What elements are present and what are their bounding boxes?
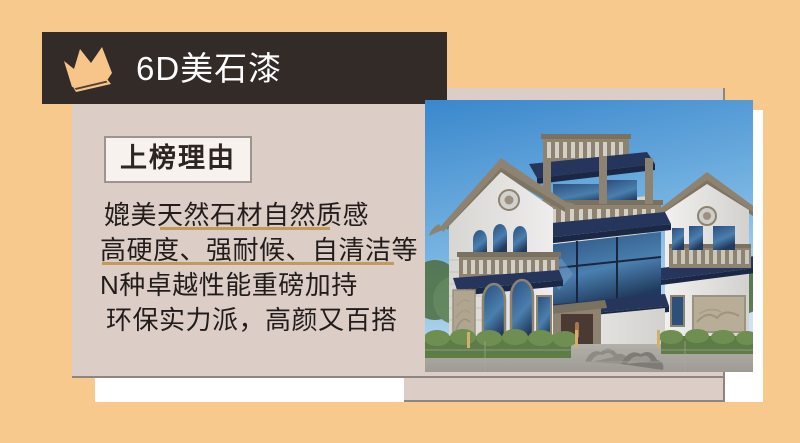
copy-line-3: N种卓越性能重磅加持 [100,268,420,303]
crown-icon [60,43,122,93]
copy-line-1: 媲美天然石材自然质感 [100,198,420,233]
page-title: 6D美石漆 [136,52,282,85]
poster-root: 6D美石漆 上榜理由 媲美天然石材自然质感 高硬度、强耐候、自清洁等 N种卓越性… [0,0,800,443]
copy-line-2-text: 高硬度、强耐候、自清洁等 [100,235,418,265]
reason-badge: 上榜理由 [104,136,252,183]
copy-underline-1 [160,227,330,230]
copy-line-4: 环保实力派，高颜又百搭 [100,303,420,338]
copy-underline-2 [102,262,394,265]
copy-line-1-text: 媲美天然石材自然质感 [104,200,369,230]
bottom-accent-strip [404,378,725,402]
copy-line-2: 高硬度、强耐候、自清洁等 [100,233,420,268]
body-copy: 媲美天然石材自然质感 高硬度、强耐候、自清洁等 N种卓越性能重磅加持 环保实力派… [100,198,420,338]
title-bar: 6D美石漆 [42,32,447,104]
photo-frame [425,100,753,372]
villa-exterior-photo [425,100,753,372]
